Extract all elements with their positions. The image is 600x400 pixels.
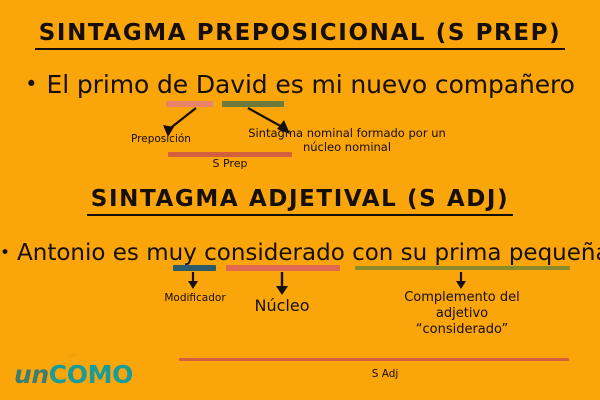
label-preposicion: Preposición: [96, 133, 226, 146]
s-adj-bar: [179, 358, 569, 361]
label-complemento-line-2: adjetivo: [372, 306, 552, 322]
arrow-nucleo: [275, 272, 289, 296]
complemento-bar: [355, 266, 570, 270]
sentence-prep-text: El primo de David es mi nuevo compañero: [47, 70, 575, 99]
arrow-modificador: [186, 272, 200, 290]
bullet-icon-prep: •: [25, 74, 37, 95]
label-complemento-line-1: Complemento del: [372, 290, 552, 306]
logo-text-un: un: [14, 360, 49, 389]
label-complemento-line-3: “considerado”: [372, 322, 552, 338]
example-sentence-adjetival: •Antonio es muy considerado con su prima…: [0, 240, 600, 266]
example-sentence-preposicional: •El primo de David es mi nuevo compañero: [0, 70, 600, 99]
label-sintagma-nominal: Sintagma nominal formado por un núcleo n…: [232, 126, 462, 154]
label-complemento-del-adjetivo: Complemento del adjetivo “considerado”: [372, 290, 552, 338]
heading-sintagma-adjetival: SINTAGMA ADJETIVAL (S ADJ): [0, 186, 600, 216]
uncomo-logo: unCOMO: [14, 362, 133, 387]
bullet-icon-adj: •: [0, 245, 10, 262]
label-s-adj: S Adj: [330, 368, 440, 381]
heading-adj-text: SINTAGMA ADJETIVAL (S ADJ): [87, 186, 513, 216]
logo-accent-mark: [68, 353, 77, 358]
heading-prep-text: SINTAGMA PREPOSICIONAL (S PREP): [35, 20, 566, 50]
logo-text-como: COMO: [49, 360, 133, 389]
slide-canvas: SINTAGMA PREPOSICIONAL (S PREP) •El prim…: [0, 0, 600, 400]
nucleo-bar: [226, 265, 340, 271]
label-nucleo: Núcleo: [232, 296, 332, 316]
heading-sintagma-preposicional: SINTAGMA PREPOSICIONAL (S PREP): [0, 20, 600, 50]
arrow-complemento: [454, 272, 468, 290]
sentence-adj-text: Antonio es muy considerado con su prima …: [17, 240, 600, 266]
logo-como-letters: COMO: [49, 360, 133, 389]
modificador-bar: [173, 265, 216, 271]
label-s-prep: S Prep: [168, 157, 292, 170]
